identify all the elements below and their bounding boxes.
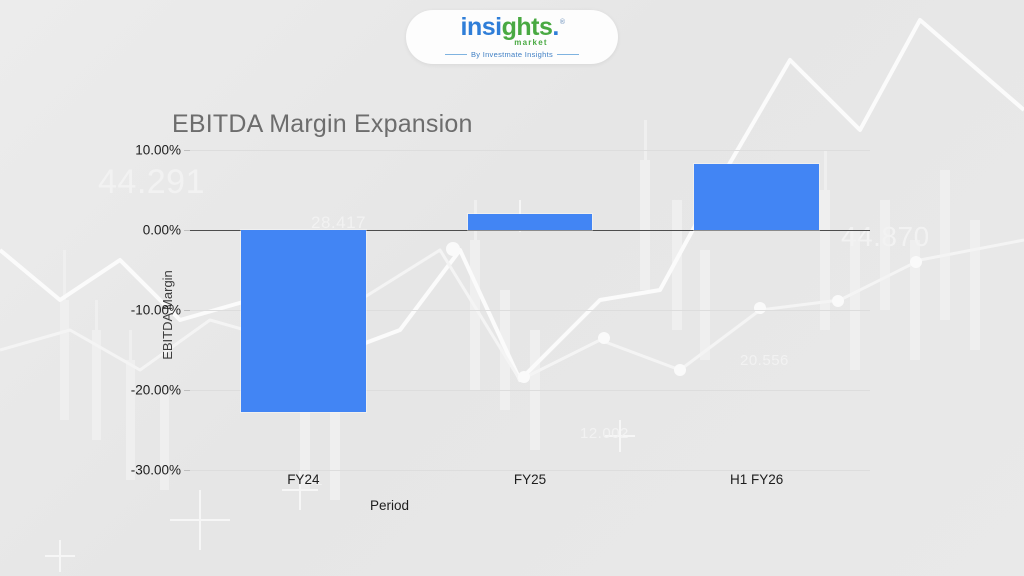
tagline-rule-right [557,54,579,55]
chart-title: EBITDA Margin Expansion [172,110,473,139]
x-axis-tick-label: FY24 [287,472,319,487]
brand-logo: insights.® market By Investmate Insights [406,10,618,64]
tagline-rule-left [445,54,467,55]
logo-word-part1: insi [461,15,502,40]
logo-word-part2: ghts [502,15,553,40]
x-axis-label: Period [370,498,409,513]
bar-fy24[interactable] [241,230,366,412]
x-axis-tick-label: FY25 [514,472,546,487]
y-axis-tick-label: 10.00% [135,143,190,158]
bar-fy25[interactable] [468,214,593,230]
bar-h1-fy26[interactable] [694,164,819,230]
y-axis-tick-label: -20.00% [131,383,190,398]
y-axis-tick-label: 0.00% [143,223,190,238]
registered-trademark-icon: ® [560,19,565,26]
x-axis-tick-label: H1 FY26 [730,472,783,487]
logo-tagline: By Investmate Insights [471,50,553,59]
chart-card: EBITDA Margin Expansion EBITDA Margin 10… [0,0,1024,576]
logo-dot: . [552,15,558,40]
gridline [190,150,870,151]
y-axis-tick-label: -30.00% [131,463,190,478]
gridline [190,470,870,471]
logo-wordmark: insights.® [461,15,564,40]
logo-tagline-wrap: By Investmate Insights [445,50,579,59]
y-axis-tick-label: -10.00% [131,303,190,318]
plot-area: 10.00%0.00%-10.00%-20.00%-30.00% FY24FY2… [190,150,870,470]
